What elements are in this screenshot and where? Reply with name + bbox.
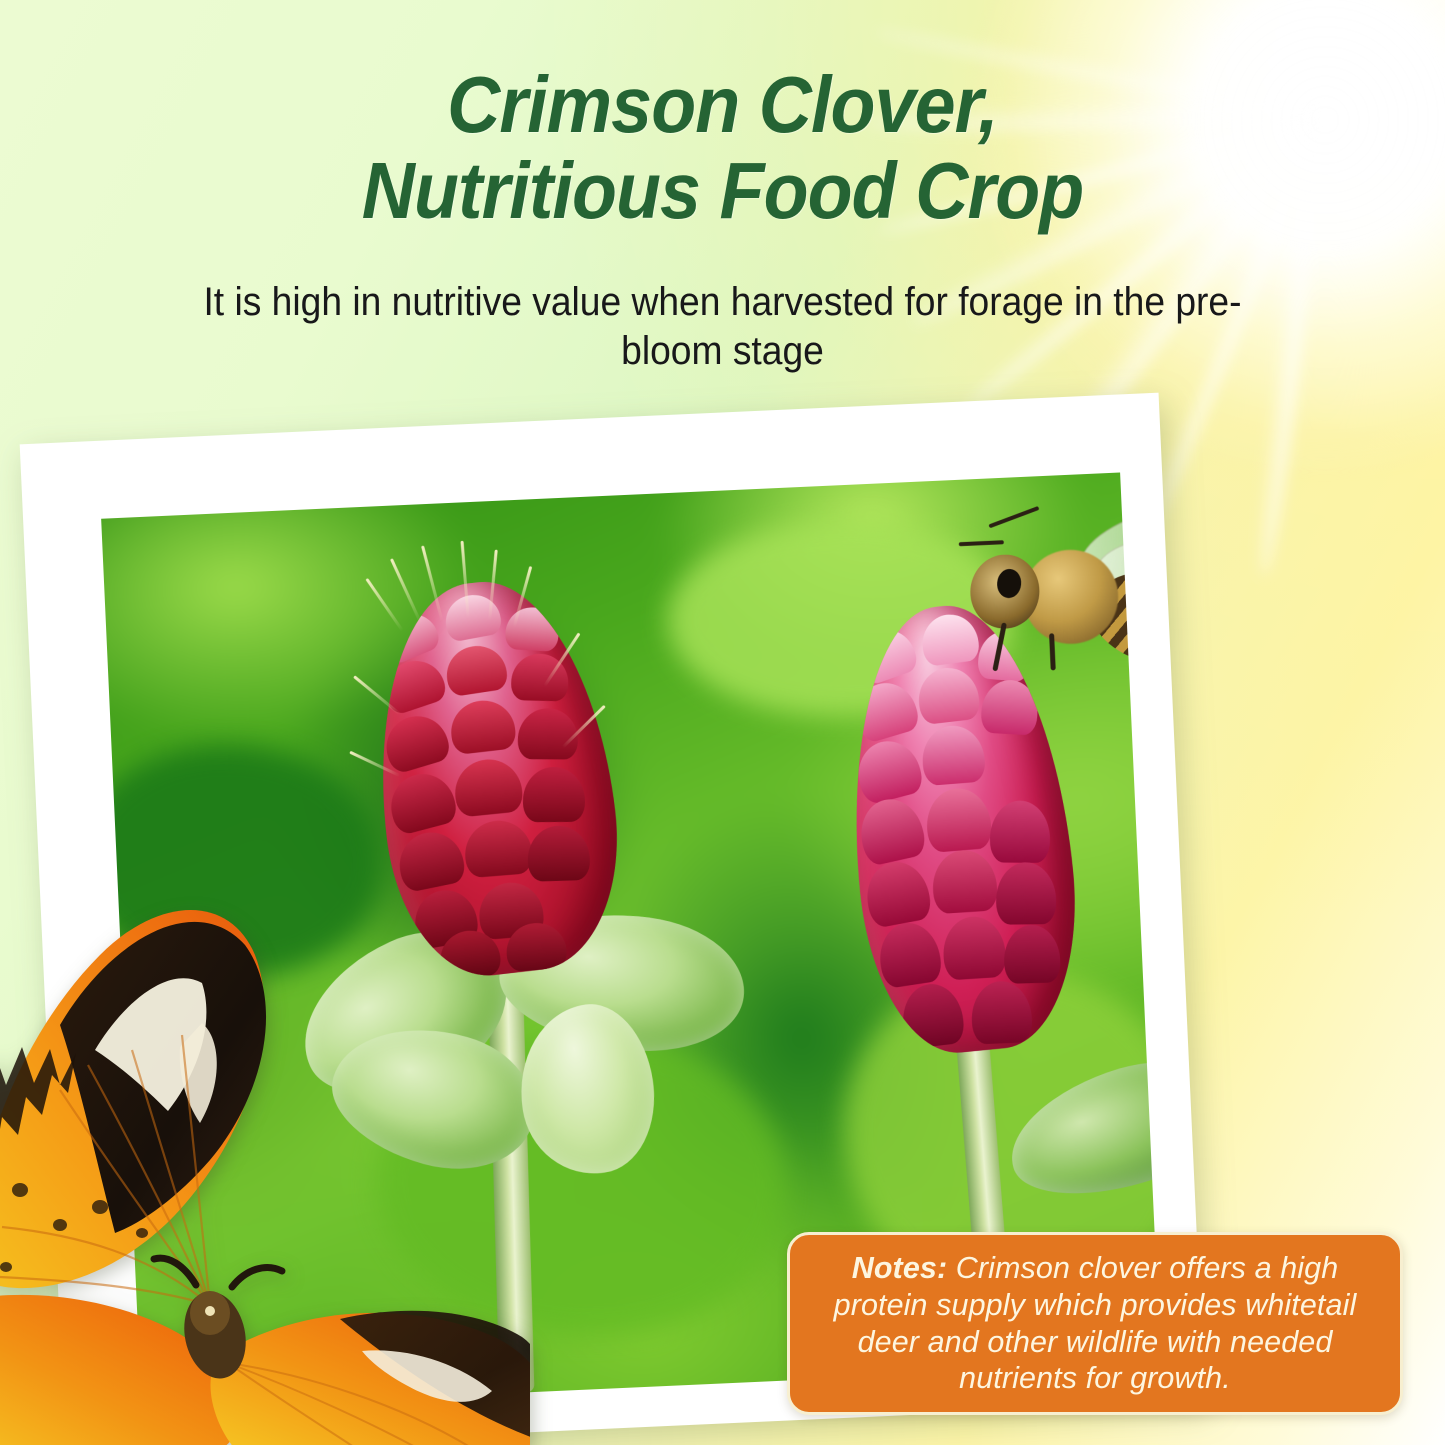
page-subtitle: It is high in nutritive value when harve…: [199, 278, 1245, 376]
notes-callout: Notes: Crimson clover offers a high prot…: [787, 1232, 1403, 1415]
poster-canvas: Crimson Clover, Nutritious Food Crop It …: [0, 0, 1445, 1445]
bee-leg: [1049, 634, 1056, 671]
butterfly: [0, 835, 530, 1445]
page-title: Crimson Clover, Nutritious Food Crop: [58, 62, 1387, 235]
butterfly-eye: [205, 1306, 215, 1316]
notes-text: Notes: Crimson clover offers a high prot…: [808, 1250, 1382, 1398]
notes-label: Notes:: [852, 1251, 948, 1285]
page-title-line-1: Crimson Clover,: [58, 62, 1387, 148]
butterfly-antenna: [232, 1268, 282, 1287]
bee-leg: [992, 623, 1006, 672]
bee-leg: [959, 540, 1004, 546]
page-title-line-2: Nutritious Food Crop: [58, 148, 1387, 234]
